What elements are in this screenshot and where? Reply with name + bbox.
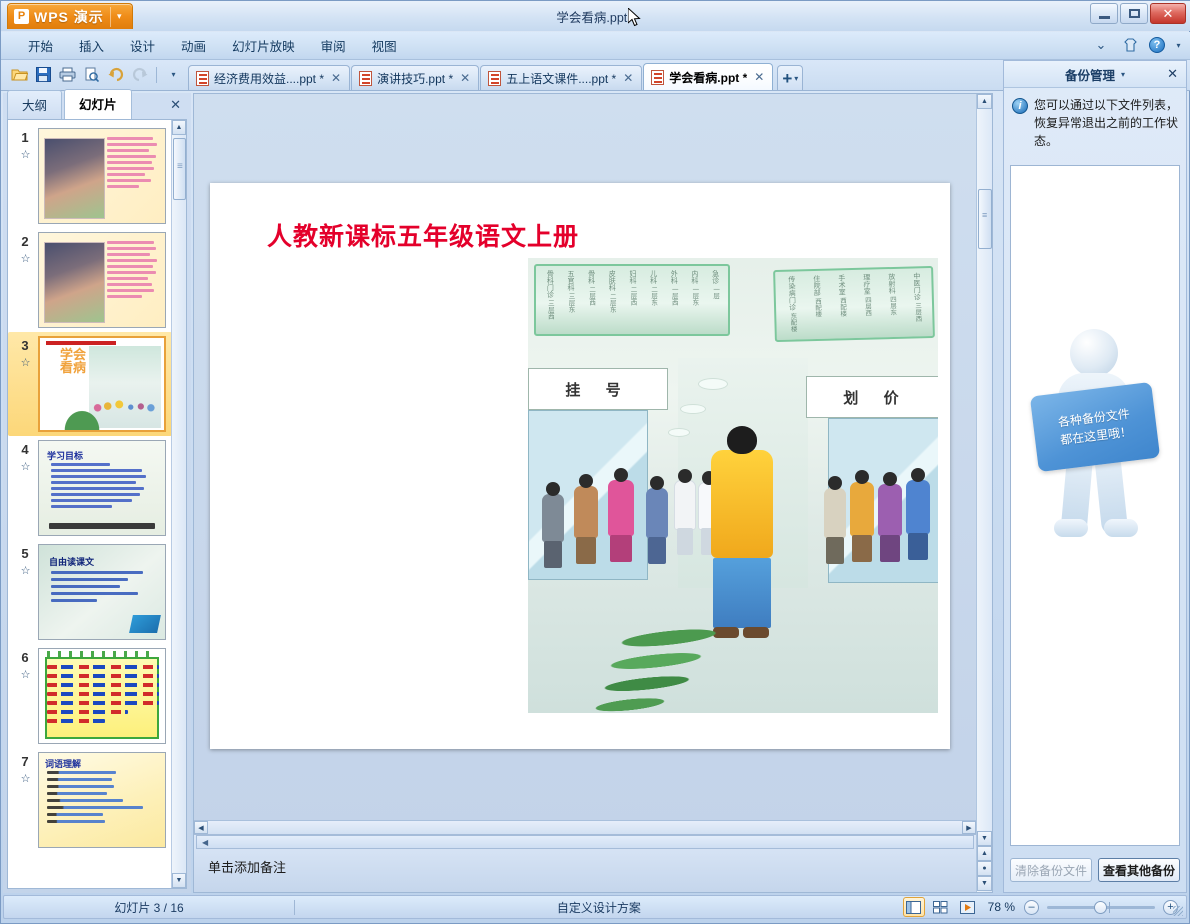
previous-slide-icon[interactable]: ▲: [977, 846, 992, 861]
slide-counter-label: 幻灯片 3 / 16: [4, 899, 294, 916]
ppt-file-icon: [488, 71, 501, 86]
info-icon: i: [1012, 98, 1028, 114]
document-title-label: 学会看病.ppt *: [1, 7, 1190, 26]
slide-vertical-scrollbar[interactable]: ▲ ▼ ▲ ● ▼: [976, 94, 992, 892]
toolbar-divider: [156, 67, 157, 83]
scroll-down-icon[interactable]: ▼: [977, 831, 992, 846]
menu-item-slideshow[interactable]: 幻灯片放映: [219, 32, 308, 59]
redo-icon[interactable]: [129, 64, 150, 85]
animation-star-icon: ☆: [12, 356, 38, 369]
doc-tab-close-icon[interactable]: ✕: [621, 71, 635, 85]
backup-panel-title: 备份管理: [1065, 65, 1115, 84]
slide-number: 6☆: [12, 648, 38, 681]
doc-tab-close-icon[interactable]: ✕: [752, 70, 766, 84]
big-char-3: 看: [315, 492, 495, 604]
close-button[interactable]: ✕: [1150, 3, 1186, 24]
doc-tab-1[interactable]: 经济费用效益....ppt * ✕: [188, 65, 350, 90]
title-bar: P WPS 演示 ▾ 学会看病.ppt * ✕: [1, 1, 1190, 31]
save-icon[interactable]: [33, 64, 54, 85]
scroll-up-icon[interactable]: ▲: [172, 120, 186, 135]
animation-star-icon: ☆: [12, 148, 38, 161]
person-figure: [542, 494, 564, 542]
view-other-backups-button[interactable]: 查看其他备份: [1098, 858, 1180, 882]
window-controls: ✕: [1090, 3, 1186, 24]
backup-panel-close-icon[interactable]: ✕: [1167, 66, 1178, 82]
minimize-button[interactable]: [1090, 3, 1118, 24]
help-dropdown-icon[interactable]: ▾: [1174, 35, 1183, 55]
undo-icon[interactable]: [105, 64, 126, 85]
thumbnail-slide-1[interactable]: 1☆: [8, 124, 172, 228]
person-figure: [646, 488, 668, 538]
slide-thumbnail-panel: 大纲 幻灯片 ✕ 1☆: [3, 93, 191, 893]
menu-item-review[interactable]: 审阅: [308, 32, 359, 59]
doc-tab-close-icon[interactable]: ✕: [458, 71, 472, 85]
slide-big-title[interactable]: 学 会 看 病: [315, 268, 495, 716]
person-figure: [906, 480, 930, 534]
backup-file-list[interactable]: 各种备份文件 都在这里哦！: [1010, 165, 1180, 846]
slide-number: 4☆: [12, 440, 38, 473]
wps-presentation-window: P WPS 演示 ▾ 学会看病.ppt * ✕ 开始 插入 设计 动画 幻灯片放…: [0, 0, 1190, 924]
thumbnail-image: 词语理解: [38, 752, 166, 848]
ppt-file-icon: [196, 71, 209, 86]
print-preview-icon[interactable]: [81, 64, 102, 85]
menu-item-view[interactable]: 视图: [359, 32, 410, 59]
tab-outline[interactable]: 大纲: [7, 90, 62, 119]
slide-title-text[interactable]: 人教新课标五年级语文上册: [267, 217, 579, 253]
pricing-counter-sign: 划 价: [806, 376, 938, 418]
person-figure: [850, 482, 874, 536]
scroll-up-icon[interactable]: ▲: [977, 94, 992, 109]
mascot-sign: 各种备份文件 都在这里哦！: [1030, 381, 1160, 471]
menu-item-home[interactable]: 开始: [15, 32, 66, 59]
thumbnail-slide-4[interactable]: 4☆ 学习目标: [8, 436, 172, 540]
animation-star-icon: ☆: [12, 460, 38, 473]
thumbnail-image: 学习目标: [38, 440, 166, 536]
slide-marker-icon[interactable]: ●: [977, 861, 992, 876]
thumbnail-slide-6[interactable]: 6☆: [8, 644, 172, 748]
doc-tab-label: 学会看病.ppt *: [669, 69, 747, 86]
thumbnail-title: 学会看病: [56, 348, 90, 374]
zoom-slider[interactable]: [1047, 906, 1155, 909]
next-slide-icon[interactable]: ▼: [977, 876, 992, 891]
boy-main-figure: [711, 450, 773, 558]
doc-tab-label: 演讲技巧.ppt *: [377, 70, 453, 87]
ceiling-lamp-icon: [698, 378, 728, 390]
notes-placeholder[interactable]: 单击添加备注: [208, 857, 286, 876]
person-figure: [878, 484, 902, 536]
animation-star-icon: ☆: [12, 668, 38, 681]
current-slide[interactable]: 人教新课标五年级语文上册 学 会 看 病 骨科门诊 三层西 五官科 三层东 骨科…: [210, 183, 950, 749]
status-bar: 幻灯片 3 / 16 自定义设计方案 78 % – +: [3, 895, 1187, 919]
help-icon[interactable]: ?: [1149, 37, 1165, 53]
notes-splitter[interactable]: ◀: [196, 835, 974, 849]
thumbnail-heading: 自由读课文: [49, 555, 94, 568]
thumbnail-image: 学会看病: [38, 336, 166, 432]
backup-panel-header: 备份管理 ▾ ✕: [1004, 61, 1186, 88]
thumbnail-slide-7[interactable]: 7☆ 词语理解: [8, 748, 172, 852]
slide-number: 5☆: [12, 544, 38, 577]
menu-item-animation[interactable]: 动画: [168, 32, 219, 59]
zoom-percent-label: 78 %: [988, 900, 1015, 914]
slide-number: 1☆: [12, 128, 38, 161]
slide-editor-area: 人教新课标五年级语文上册 学 会 看 病 骨科门诊 三层西 五官科 三层东 骨科…: [193, 93, 993, 893]
thumbnail-image: [38, 648, 166, 744]
maximize-button[interactable]: [1120, 3, 1148, 24]
thumbnail-heading: 词语理解: [45, 757, 81, 770]
doc-tab-2[interactable]: 演讲技巧.ppt * ✕: [351, 65, 479, 90]
person-figure: [824, 488, 846, 538]
menu-bar: 开始 插入 设计 动画 幻灯片放映 审阅 视图 ⌄ ? ▾: [1, 32, 1190, 60]
new-tab-group: + ▾: [777, 65, 803, 90]
new-tab-dropdown-icon[interactable]: ▾: [794, 74, 798, 83]
person-figure: [574, 486, 598, 538]
doc-tab-close-icon[interactable]: ✕: [329, 71, 343, 85]
zoom-out-button[interactable]: –: [1024, 900, 1039, 915]
big-char-2: 会: [315, 380, 495, 492]
tab-slides[interactable]: 幻灯片: [64, 89, 132, 119]
panel-tab-bar: 大纲 幻灯片 ✕: [3, 93, 191, 119]
animation-star-icon: ☆: [12, 564, 38, 577]
big-char-4: 病: [315, 604, 495, 716]
ppt-file-icon: [359, 71, 372, 86]
thumbnail-image: [38, 232, 166, 328]
doc-tab-3[interactable]: 五上语文课件....ppt * ✕: [480, 65, 642, 90]
scrollbar-thumb[interactable]: [978, 189, 992, 249]
doc-tab-label: 五上语文课件....ppt *: [506, 70, 616, 87]
slide-horizontal-scrollbar[interactable]: ◀ ▶: [194, 820, 976, 834]
registration-counter-sign: 挂 号: [528, 368, 668, 410]
new-tab-button[interactable]: +: [782, 70, 792, 87]
department-sign-left: 骨科门诊 三层西 五官科 三层东 骨科 二层西 皮肤科 二层东 妇科 二层西 儿…: [534, 264, 730, 336]
view-controls: 78 % – +: [903, 897, 1186, 917]
thumbnail-image: [38, 128, 166, 224]
scroll-right-icon[interactable]: ▶: [962, 821, 976, 834]
slide-number: 2☆: [12, 232, 38, 265]
backup-info-text: 您可以通过以下文件列表，恢复异常退出之前的工作状态。: [1034, 96, 1178, 150]
backup-mascot-illustration: 各种备份文件 都在这里哦！: [1020, 323, 1170, 553]
person-figure: [608, 480, 634, 536]
backup-info-block: i 您可以通过以下文件列表，恢复异常退出之前的工作状态。: [1004, 88, 1186, 160]
skin-icon[interactable]: [1120, 35, 1140, 55]
customize-icon[interactable]: ▾: [163, 64, 184, 85]
big-char-1: 学: [315, 268, 495, 380]
department-sign-right: 传染病门诊 东配楼 住院部 西配楼 手术室 西配楼 理疗室 四层西 放射科 四层…: [773, 266, 935, 342]
scrollbar-thumb[interactable]: [173, 138, 186, 200]
open-icon[interactable]: [9, 64, 30, 85]
doc-tab-4-active[interactable]: 学会看病.ppt * ✕: [643, 63, 773, 90]
backup-panel-buttons: 清除备份文件 查看其他备份: [1010, 858, 1180, 882]
thumbnail-slide-5[interactable]: 5☆ 自由读课文: [8, 540, 172, 644]
animation-star-icon: ☆: [12, 252, 38, 265]
notes-pane[interactable]: ◀ 单击添加备注: [194, 834, 976, 892]
scroll-down-icon[interactable]: ▼: [172, 873, 186, 888]
zoom-default-tick: [1109, 902, 1110, 913]
ppt-file-icon: [651, 70, 664, 85]
palm-plant: [532, 591, 734, 713]
menu-right-icons: ⌄ ? ▾: [1091, 35, 1183, 55]
thumbnail-list[interactable]: 1☆: [7, 119, 187, 889]
doctor-figure: [674, 480, 696, 530]
chevron-down-icon[interactable]: ⌄: [1091, 35, 1111, 55]
thumbnail-slide-3-selected[interactable]: 3☆ 学会看病: [8, 332, 172, 436]
panel-close-icon[interactable]: ✕: [170, 97, 181, 113]
thumbnail-scrollbar[interactable]: ▲ ▼: [171, 120, 186, 888]
slide-sorter-view-icon[interactable]: [930, 897, 952, 917]
resize-grip[interactable]: [1173, 906, 1183, 916]
ceiling-lamp-icon: [680, 404, 706, 414]
scroll-left-icon[interactable]: ◀: [194, 821, 208, 834]
menu-item-insert[interactable]: 插入: [66, 32, 117, 59]
ceiling-lamp-icon: [668, 428, 690, 437]
clear-backups-button[interactable]: 清除备份文件: [1010, 858, 1092, 882]
slide-number: 7☆: [12, 752, 38, 785]
normal-view-icon[interactable]: [903, 897, 925, 917]
quick-access-toolbar: ▾: [1, 59, 188, 90]
hospital-lobby-illustration[interactable]: 骨科门诊 三层西 五官科 三层东 骨科 二层西 皮肤科 二层东 妇科 二层西 儿…: [528, 258, 938, 713]
slide-number: 3☆: [12, 336, 38, 369]
slideshow-view-icon[interactable]: [957, 897, 979, 917]
chevron-down-icon[interactable]: ▾: [1121, 70, 1125, 79]
slide-canvas[interactable]: 人教新课标五年级语文上册 学 会 看 病 骨科门诊 三层西 五官科 三层东 骨科…: [194, 94, 976, 832]
backup-manager-panel: 备份管理 ▾ ✕ i 您可以通过以下文件列表，恢复异常退出之前的工作状态。 各种…: [1003, 60, 1187, 893]
theme-name-label: 自定义设计方案: [295, 899, 903, 916]
thumbnail-image: 自由读课文: [38, 544, 166, 640]
menu-item-design[interactable]: 设计: [117, 32, 168, 59]
print-icon[interactable]: [57, 64, 78, 85]
animation-star-icon: ☆: [12, 772, 38, 785]
thumbnail-heading: 学习目标: [47, 449, 83, 462]
splitter-arrow-icon: ◀: [202, 838, 208, 847]
zoom-slider-knob[interactable]: [1094, 901, 1107, 914]
thumbnail-slide-2[interactable]: 2☆: [8, 228, 172, 332]
doc-tab-label: 经济费用效益....ppt *: [214, 70, 324, 87]
